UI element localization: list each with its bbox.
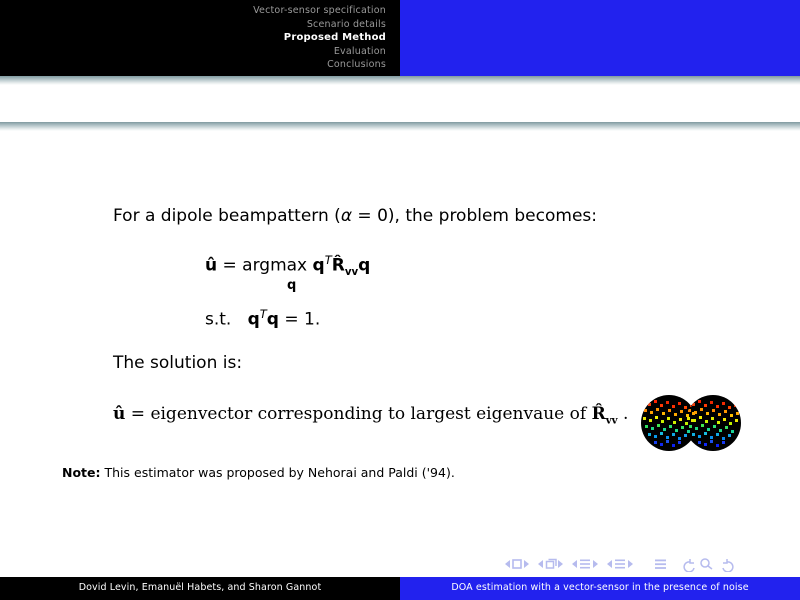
solution-equals: = bbox=[131, 404, 145, 424]
solution-u-hat: û bbox=[113, 404, 125, 424]
navsym-back-search-forward bbox=[684, 559, 733, 572]
solution-period: . bbox=[623, 404, 628, 424]
beamer-navigation-symbols[interactable] bbox=[505, 556, 785, 572]
argmax-operator: argmax bbox=[242, 256, 307, 276]
navsym-previous-section bbox=[607, 560, 633, 569]
constraint-q-vector-2: q bbox=[267, 310, 279, 330]
navsym-previous-frame bbox=[538, 560, 563, 569]
presentation-slide: Vector-sensor specification Scenario det… bbox=[0, 0, 800, 600]
solution-R-hat: R̂ bbox=[592, 404, 606, 424]
q-vector-trailing: q bbox=[358, 256, 370, 276]
constraint-value: 1 bbox=[304, 310, 315, 330]
constraint-transpose: T bbox=[260, 307, 267, 321]
dipole-beampattern-figure bbox=[638, 393, 744, 453]
q-vector: q bbox=[313, 256, 325, 276]
note-line: Note: This estimator was proposed by Neh… bbox=[62, 465, 455, 480]
footer-authors-panel: Dovid Levin, Emanuël Habets, and Sharon … bbox=[0, 577, 400, 600]
equation-argmax: û = argmax qTR̂vvq bbox=[205, 253, 370, 278]
constraint-q-vector: q bbox=[248, 310, 260, 330]
intro-sentence: For a dipole beampattern (α = 0), the pr… bbox=[113, 206, 597, 226]
navigation-symbols-svg[interactable] bbox=[505, 556, 785, 572]
intro-prefix: For a dipole beampattern ( bbox=[113, 206, 341, 226]
slide-footer: Dovid Levin, Emanuël Habets, and Sharon … bbox=[0, 577, 800, 600]
section-navigation: Vector-sensor specification Scenario det… bbox=[0, 4, 393, 72]
equation-constraint: s.t. qTq = 1. bbox=[205, 307, 320, 330]
slide-body: For a dipole beampattern (α = 0), the pr… bbox=[0, 131, 800, 546]
note-text: This estimator was proposed by Nehorai a… bbox=[105, 465, 455, 480]
title-separator-bar bbox=[0, 122, 800, 131]
alpha-value: = 0 bbox=[352, 206, 388, 226]
solution-text: eigenvector corresponding to largest eig… bbox=[150, 404, 586, 424]
subject-to-label: s.t. bbox=[205, 310, 231, 330]
nav-item-proposed-method[interactable]: Proposed Method bbox=[0, 31, 393, 45]
transpose-superscript: T bbox=[325, 253, 332, 267]
nav-item-evaluation[interactable]: Evaluation bbox=[0, 45, 393, 59]
R-hat-matrix: R̂ bbox=[332, 256, 345, 276]
constraint-equals: = bbox=[284, 310, 298, 330]
alpha-symbol: α bbox=[341, 206, 352, 226]
beampattern-svg bbox=[638, 393, 744, 453]
u-hat-symbol: û bbox=[205, 256, 217, 276]
header-separator-bar bbox=[0, 76, 800, 85]
nav-item-conclusions[interactable]: Conclusions bbox=[0, 58, 393, 72]
intro-suffix: ), the problem becomes: bbox=[388, 206, 597, 226]
argmax-subscript-q: q bbox=[287, 278, 296, 293]
solution-R-subscript: vv bbox=[606, 414, 618, 426]
navsym-table-of-contents bbox=[655, 560, 666, 569]
note-label: Note: bbox=[62, 465, 101, 480]
solution-statement: û = eigenvector corresponding to largest… bbox=[113, 404, 628, 426]
footer-title: DOA estimation with a vector-sensor in t… bbox=[400, 582, 800, 593]
navsym-previous-subsection bbox=[572, 560, 598, 569]
footer-title-panel: DOA estimation with a vector-sensor in t… bbox=[400, 577, 800, 600]
navsym-first-slide bbox=[505, 560, 529, 568]
nav-item-vector-sensor-specification[interactable]: Vector-sensor specification bbox=[0, 4, 393, 18]
solution-heading: The solution is: bbox=[113, 353, 242, 373]
slide-header: Vector-sensor specification Scenario det… bbox=[0, 0, 800, 76]
equals-sign: = bbox=[223, 256, 237, 276]
nav-item-scenario-details[interactable]: Scenario details bbox=[0, 18, 393, 32]
footer-authors: Dovid Levin, Emanuël Habets, and Sharon … bbox=[0, 582, 400, 593]
constraint-period: . bbox=[315, 310, 320, 330]
R-subscript-vv: vv bbox=[345, 267, 358, 278]
